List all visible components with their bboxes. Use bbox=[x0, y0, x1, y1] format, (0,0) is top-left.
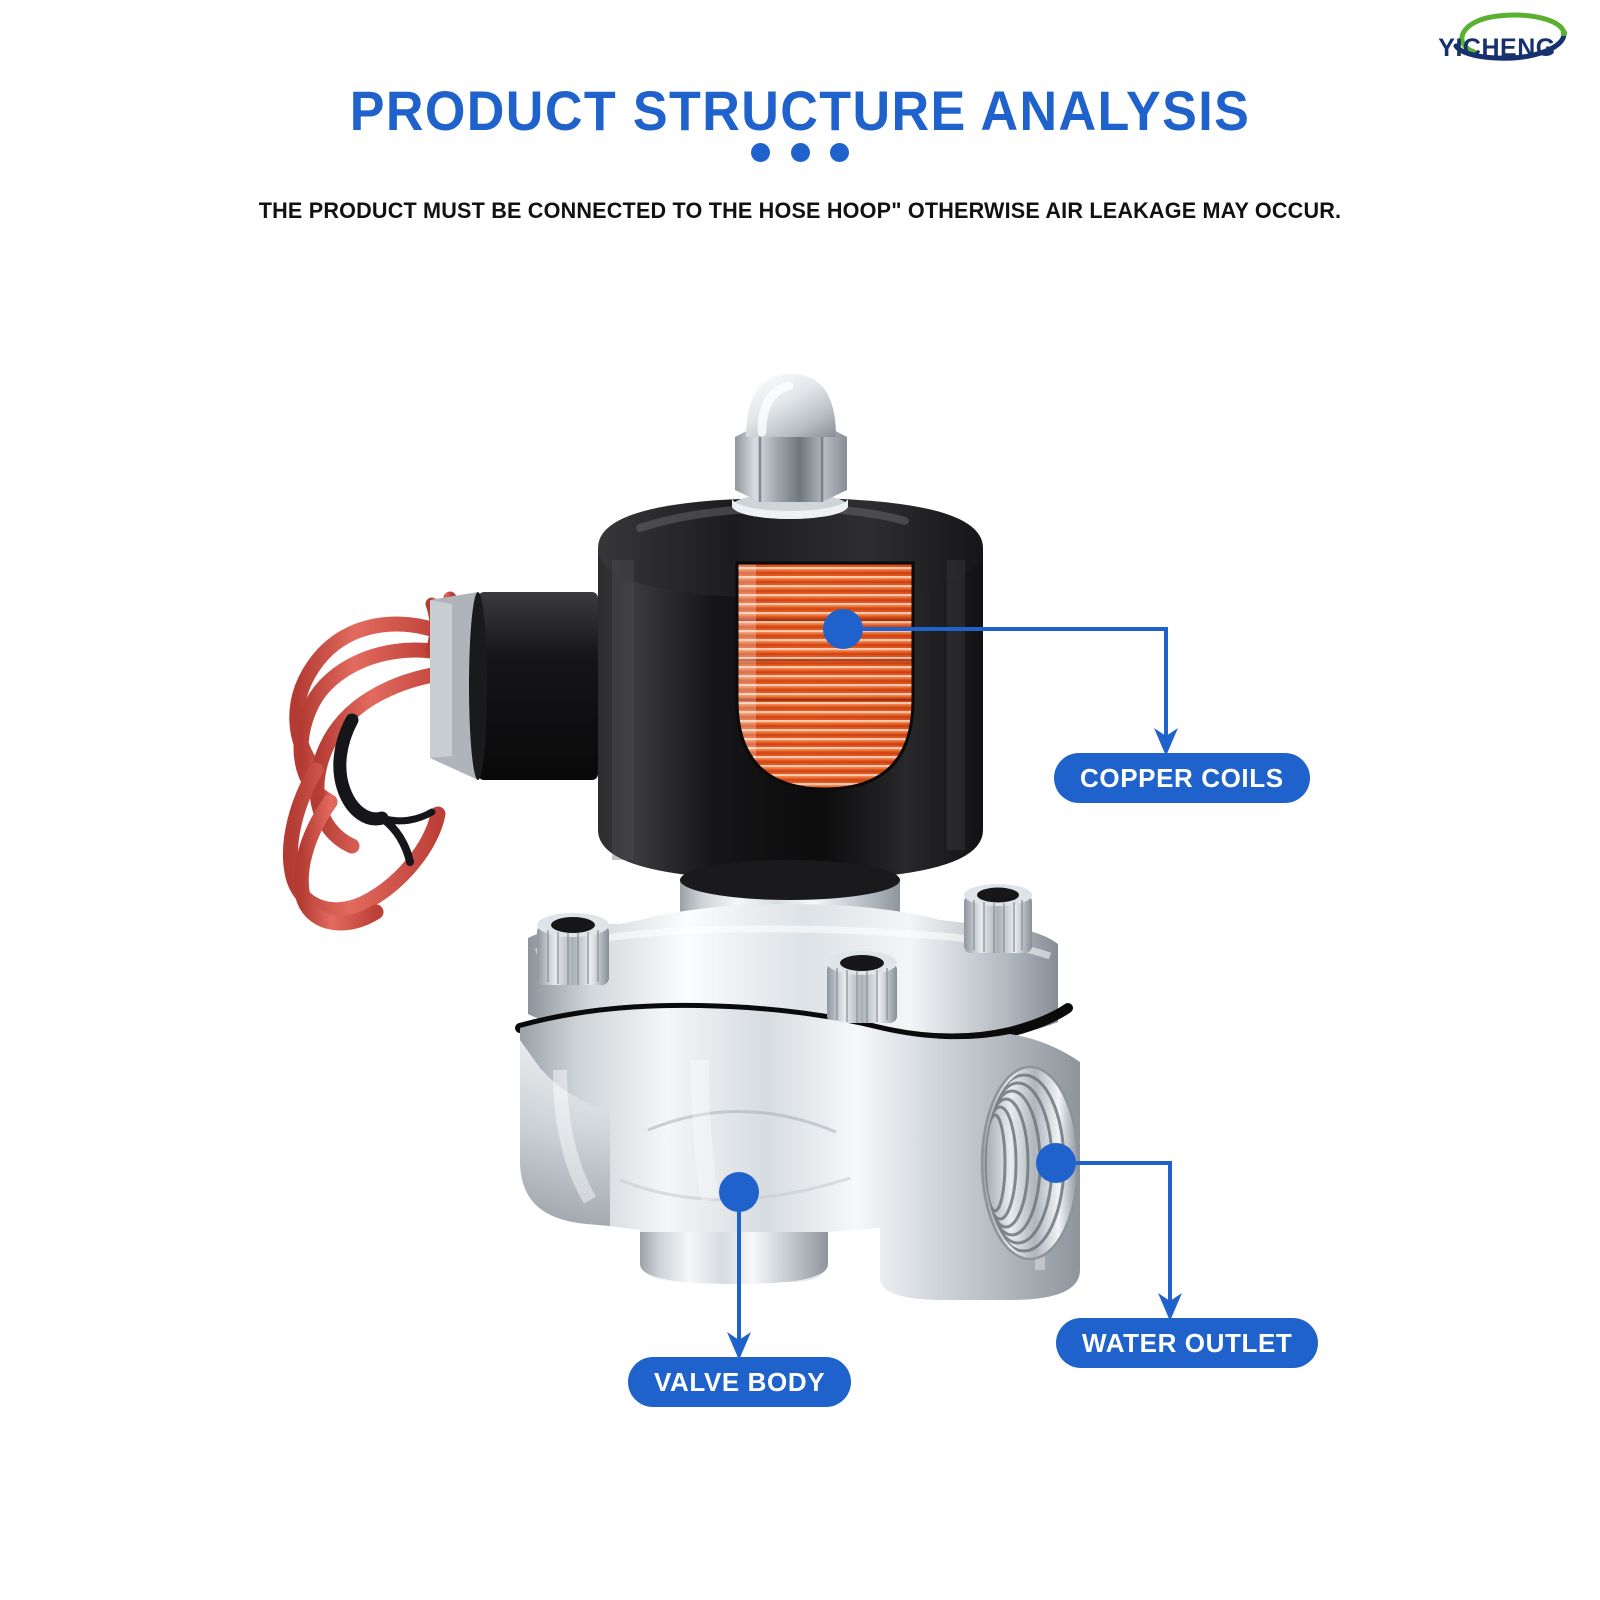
red-wire-ends bbox=[432, 598, 451, 651]
connector-water-outlet bbox=[1056, 1163, 1170, 1303]
callout-label-water-outlet[interactable]: WATER OUTLET bbox=[1056, 1318, 1318, 1368]
valve-bonnet bbox=[528, 904, 1058, 1043]
title-dot bbox=[751, 143, 770, 162]
hex-socket-screws bbox=[537, 884, 1032, 1023]
hex-socket-screw bbox=[827, 951, 897, 1023]
callout-label-valve-body[interactable]: VALVE BODY bbox=[628, 1357, 851, 1407]
copper-winding-cutaway bbox=[730, 555, 922, 800]
callout-dot-copper-coils bbox=[823, 609, 863, 649]
valve-body-seam bbox=[520, 1008, 1068, 1039]
stainless-steel-valve-body bbox=[520, 1008, 1080, 1300]
coil-window-edge bbox=[737, 563, 913, 789]
dome-acorn-nut bbox=[732, 374, 848, 519]
page-subtitle: THE PRODUCT MUST BE CONNECTED TO THE HOS… bbox=[32, 198, 1568, 224]
connector-copper-coils bbox=[843, 629, 1166, 738]
callout-arrowheads bbox=[727, 728, 1182, 1360]
callout-dot-valve-body bbox=[719, 1172, 759, 1212]
valve-neck bbox=[680, 860, 900, 946]
threaded-water-outlet bbox=[982, 1067, 1078, 1259]
black-solenoid-coil-housing bbox=[598, 498, 983, 880]
title-dots-decoration bbox=[0, 143, 1600, 167]
title-dot bbox=[791, 143, 810, 162]
page-title: PRODUCT STRUCTURE ANALYSIS bbox=[56, 78, 1544, 143]
hex-socket-screw bbox=[964, 884, 1032, 953]
black-cable-tie bbox=[340, 720, 432, 862]
title-dot bbox=[830, 143, 849, 162]
callout-dots bbox=[719, 609, 1076, 1212]
brand-name: YICHENG bbox=[1412, 34, 1582, 63]
black-cable-gland bbox=[430, 592, 598, 780]
red-power-wires bbox=[290, 624, 452, 923]
callout-label-copper-coils[interactable]: COPPER COILS bbox=[1054, 753, 1310, 803]
brand-logo: YICHENG bbox=[1412, 8, 1582, 70]
hex-socket-screw bbox=[537, 913, 609, 985]
callout-connectors bbox=[739, 629, 1170, 1342]
callout-dot-water-outlet bbox=[1036, 1143, 1076, 1183]
